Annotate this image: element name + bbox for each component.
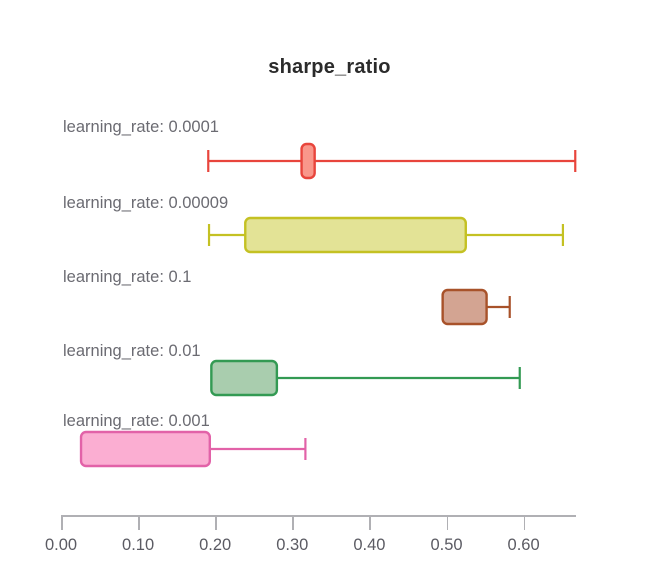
box-0.001[interactable] (81, 432, 210, 466)
boxplot-0.00009 (209, 218, 563, 252)
box-0.0001[interactable] (302, 144, 315, 178)
boxplot-0.1 (443, 290, 510, 324)
boxplot-layer (0, 0, 659, 579)
box-0.1[interactable] (443, 290, 487, 324)
chart-figure: sharpe_ratio learning_rate: 0.0001learni… (0, 0, 659, 579)
boxplot-0.0001 (208, 144, 575, 178)
boxplot-0.01 (211, 361, 519, 395)
boxplot-0.001 (81, 432, 305, 466)
box-0.01[interactable] (211, 361, 277, 395)
box-0.00009[interactable] (245, 218, 466, 252)
